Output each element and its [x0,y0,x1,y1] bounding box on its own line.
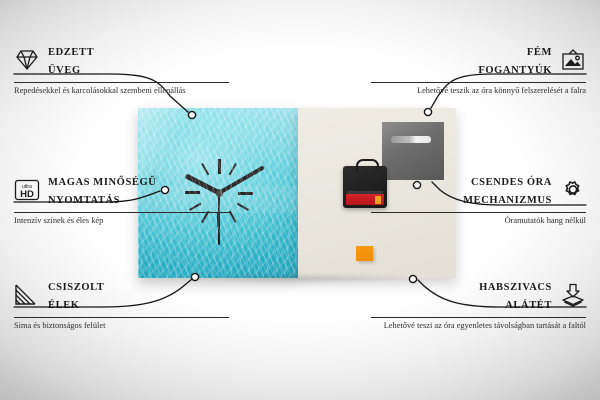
callout-divider [371,82,586,83]
callout-subtitle: Sima és biztonságos felület [14,321,229,331]
callout-high-quality-print[interactable]: ultra HD MAGAS MINŐSÉGŰ NYOMTATÁS Intenz… [14,172,229,226]
callout-tempered-glass[interactable]: EDZETT ÜVEG Repedésekkel és karcolásokka… [14,42,229,96]
callout-divider [371,212,586,213]
callout-subtitle: Lehetővé teszi az óra egyenletes távolsá… [371,321,586,331]
gear-icon [560,178,586,202]
callout-silent-mechanism[interactable]: CSENDES ÓRA MECHANIZMUS Óramutatók hang … [371,172,586,226]
callout-divider [14,212,229,213]
callout-header: CSENDES ÓRA MECHANIZMUS [371,172,586,208]
diamond-icon [14,48,40,72]
callout-divider [14,317,229,318]
callout-header: CSISZOLT ÉLEK [14,277,229,313]
callout-subtitle: Óramutatók hang nélkül [371,216,586,226]
press-pad-icon [560,283,586,307]
callout-title: CSISZOLT ÉLEK [48,277,104,313]
callout-subtitle: Lehetővé teszik az óra könnyű felszerelé… [371,86,586,96]
diagonal-lines-icon [14,283,40,307]
callout-foam-pad[interactable]: HABSZIVACS ALÁTÉT Lehetővé teszi az óra … [371,277,586,331]
callout-header: ultra HD MAGAS MINŐSÉGŰ NYOMTATÁS [14,172,229,208]
picture-hanger-icon [560,48,586,72]
infographic-canvas: EDZETT ÜVEG Repedésekkel és karcolásokka… [0,0,600,400]
hanging-loop-icon [356,159,379,171]
callout-header: EDZETT ÜVEG [14,42,229,78]
callout-subtitle: Repedésekkel és karcolásokkal szembeni e… [14,86,229,96]
callout-title: HABSZIVACS ALÁTÉT [479,277,552,313]
callout-metal-handles[interactable]: FÉM FOGANTYÚK Lehetővé teszik az óra kön… [371,42,586,96]
svg-text:HD: HD [20,189,34,200]
callout-header: FÉM FOGANTYÚK [371,42,586,78]
callout-title: CSENDES ÓRA MECHANIZMUS [463,172,552,208]
hanger-slot [391,136,431,143]
callout-subtitle: Intenzív színek és éles kép [14,216,229,226]
callout-header: HABSZIVACS ALÁTÉT [371,277,586,313]
callout-title: EDZETT ÜVEG [48,42,94,78]
ultra-hd-icon: ultra HD [14,178,40,202]
callout-title: FÉM FOGANTYÚK [478,42,552,78]
callout-title: MAGAS MINŐSÉGŰ NYOMTATÁS [48,172,156,208]
callout-divider [14,82,229,83]
callout-polished-edges[interactable]: CSISZOLT ÉLEK Sima és biztonságos felüle… [14,277,229,331]
foam-pad-square [356,246,373,261]
callout-divider [371,317,586,318]
